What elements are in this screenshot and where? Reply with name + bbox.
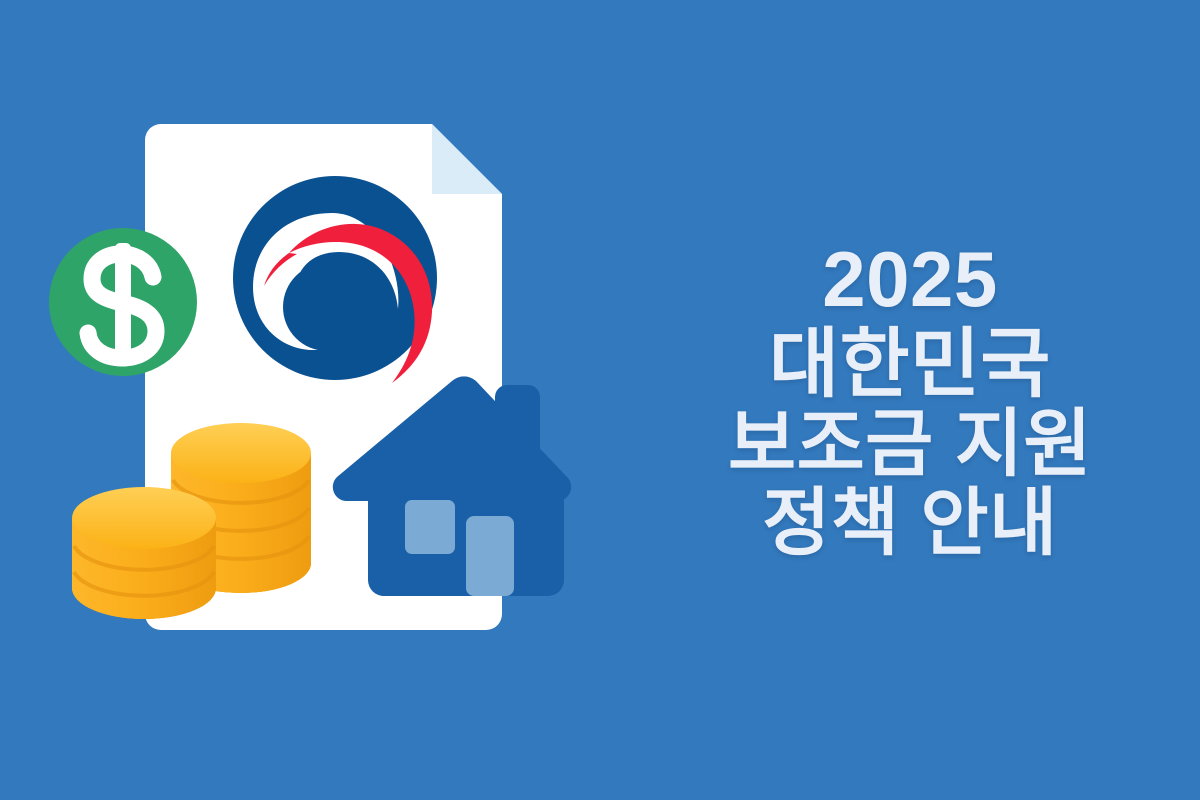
illustration-group — [0, 0, 620, 800]
coin-stack-short — [72, 487, 216, 619]
dollar-coin-badge — [49, 228, 197, 376]
coin-stack-tall-top — [171, 423, 311, 483]
headline-line-kind: 정책 안내 — [762, 484, 1057, 562]
poster-canvas: 2025 대한민국 보조금 지원 정책 안내 — [0, 0, 1200, 800]
house-door — [466, 516, 514, 596]
coin-stack-short-top — [72, 487, 216, 549]
headline-line-subject: 보조금 지원 — [728, 405, 1092, 483]
document-folded-corner — [432, 124, 502, 194]
headline-line-year: 2025 — [822, 238, 998, 321]
illustration-svg — [0, 0, 620, 800]
headline-block: 2025 대한민국 보조금 지원 정책 안내 — [620, 0, 1200, 800]
headline-line-country: 대한민국 — [769, 325, 1051, 406]
house-window — [405, 500, 455, 554]
